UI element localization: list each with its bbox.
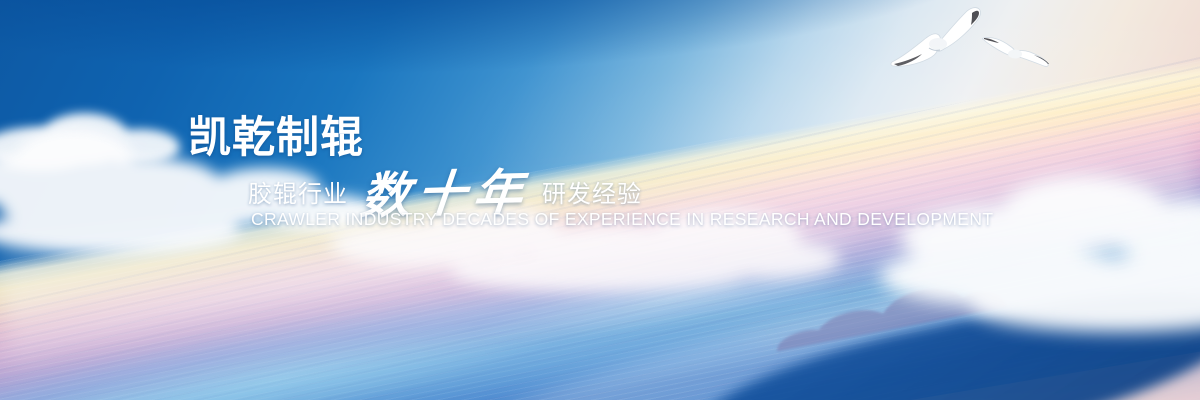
cloud-bank-center <box>330 196 850 316</box>
hero-banner: 凯乾制辊 胶辊行业 数十年 研发经验 CRAWLER INDUSTRY DECA… <box>0 0 1200 400</box>
seagull-icon <box>978 22 1052 70</box>
seagull-icon <box>884 4 988 70</box>
cloud-bank-right <box>880 150 1200 340</box>
